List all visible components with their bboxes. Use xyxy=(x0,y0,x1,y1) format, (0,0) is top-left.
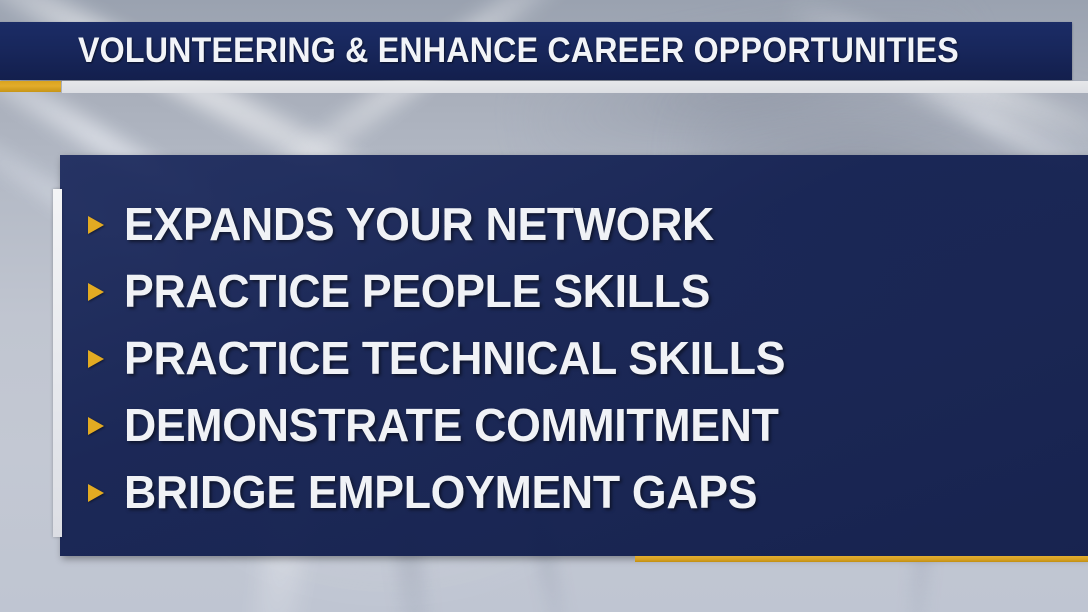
list-item-label: BRIDGE EMPLOYMENT GAPS xyxy=(124,469,757,515)
slide-canvas: VOLUNTEERING & ENHANCE CAREER OPPORTUNIT… xyxy=(0,0,1088,612)
list-item: DEMONSTRATE COMMITMENT xyxy=(86,391,1026,458)
title-gray-accent-bar xyxy=(62,81,1088,93)
panel-bottom-gold-accent-bar xyxy=(635,556,1088,562)
list-item: EXPANDS YOUR NETWORK xyxy=(86,190,1026,257)
triangle-right-icon xyxy=(86,482,108,504)
list-item-label: EXPANDS YOUR NETWORK xyxy=(124,201,714,247)
list-item-label: PRACTICE PEOPLE SKILLS xyxy=(124,268,710,314)
bullet-list: EXPANDS YOUR NETWORK PRACTICE PEOPLE SKI… xyxy=(86,190,1026,525)
list-item-label: DEMONSTRATE COMMITMENT xyxy=(124,402,779,448)
triangle-right-icon xyxy=(86,281,108,303)
slide-title: VOLUNTEERING & ENHANCE CAREER OPPORTUNIT… xyxy=(78,31,959,71)
list-item: PRACTICE PEOPLE SKILLS xyxy=(86,257,1026,324)
triangle-right-icon xyxy=(86,214,108,236)
triangle-right-icon xyxy=(86,415,108,437)
panel-left-accent-bar xyxy=(53,189,62,537)
triangle-right-icon xyxy=(86,348,108,370)
list-item: PRACTICE TECHNICAL SKILLS xyxy=(86,324,1026,391)
title-gold-accent-bar xyxy=(0,81,61,92)
list-item-label: PRACTICE TECHNICAL SKILLS xyxy=(124,335,785,381)
title-banner: VOLUNTEERING & ENHANCE CAREER OPPORTUNIT… xyxy=(0,22,1072,80)
list-item: BRIDGE EMPLOYMENT GAPS xyxy=(86,458,1026,525)
